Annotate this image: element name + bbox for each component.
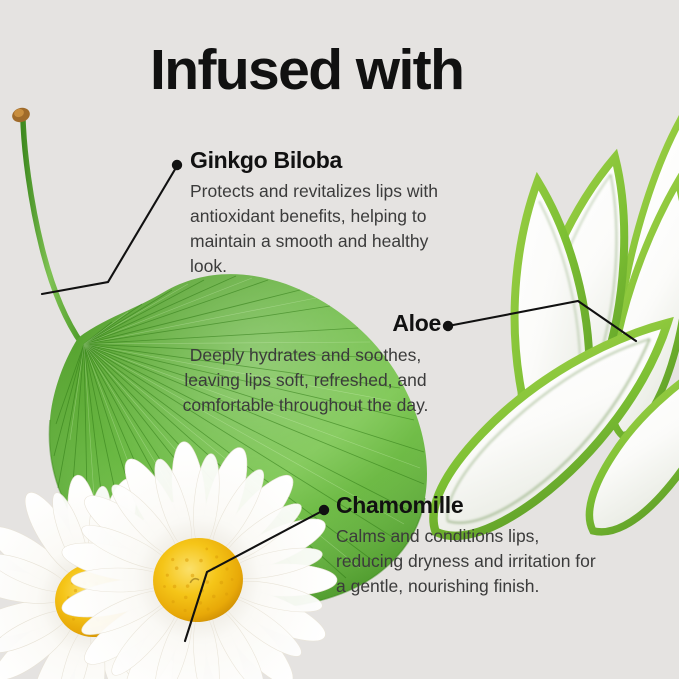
leader-dot-chamomille bbox=[319, 505, 329, 515]
ingredient-description-aloe: Deeply hydrates and soothes, leaving lip… bbox=[170, 343, 441, 419]
ingredient-name-ginkgo: Ginkgo Biloba bbox=[190, 147, 466, 175]
leader-dot-ginkgo bbox=[172, 160, 182, 170]
leader-dot-aloe bbox=[443, 321, 453, 331]
ingredient-description-chamomille: Calms and conditions lips, reducing dryn… bbox=[336, 524, 606, 600]
leader-aloe bbox=[443, 301, 636, 341]
ingredient-description-ginkgo: Protects and revitalizes lips with antio… bbox=[190, 179, 466, 280]
page-title: Infused with bbox=[150, 41, 463, 100]
ingredient-name-aloe: Aloe bbox=[170, 310, 441, 338]
leader-ginkgo bbox=[42, 160, 182, 294]
ingredient-block-ginkgo: Ginkgo Biloba Protects and revitalizes l… bbox=[190, 147, 466, 279]
ingredient-name-chamomille: Chamomille bbox=[336, 492, 606, 520]
ingredient-block-chamomille: Chamomille Calms and conditions lips, re… bbox=[336, 492, 606, 599]
infographic-canvas: Infused with Ginkgo Biloba Protects and … bbox=[0, 0, 679, 679]
leader-chamomille bbox=[185, 505, 329, 641]
ingredient-block-aloe: Aloe Deeply hydrates and soothes, leavin… bbox=[170, 310, 441, 418]
